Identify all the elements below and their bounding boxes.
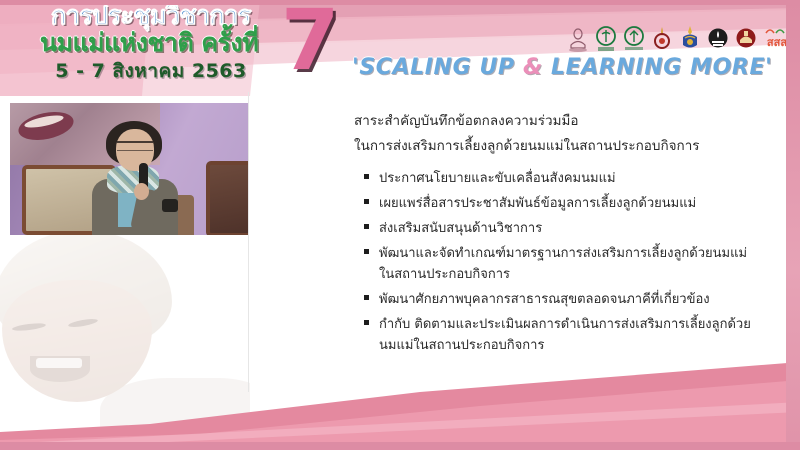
frame-bottom-border (0, 442, 800, 450)
frame-right-border (786, 0, 800, 450)
content-heading-line2: ในการส่งเสริมการเลี้ยงลูกด้วยนมแม่ในสถาน… (354, 134, 754, 159)
conference-title-line2: นมแม่แห่งชาติ ครั้งที่ (4, 30, 294, 56)
list-item-label: ส่งเสริมสนับสนุนด้านวิชาการ (379, 218, 759, 239)
conference-title-block: การประชุมวิชาการ นมแม่แห่งชาติ ครั้งที่ … (0, 0, 300, 96)
content-heading: สาระสำคัญบันทึกข้อตกลงความร่วมมือ ในการส… (354, 109, 754, 159)
bullet-square-icon (364, 295, 369, 300)
logo-ministry-of-public-health-icon (594, 24, 618, 54)
organizer-logo-strip: สสส (566, 24, 792, 54)
svg-text:สสส: สสส (767, 36, 787, 49)
list-item: เผยแพร่สื่อสารประชาสัมพันธ์ข้อมูลการเลี้… (364, 193, 759, 214)
list-item-label: เผยแพร่สื่อสารประชาสัมพันธ์ข้อมูลการเลี้… (379, 193, 759, 214)
conference-title-line1: การประชุมวิชาการ (18, 3, 284, 29)
list-item-label: ประกาศนโยบายและขับเคลื่อนสังคมนมแม่ (379, 168, 759, 189)
list-item-label: พัฒนาศักยภาพบุคลากรสาธารณสุขตลอดจนภาคีที… (379, 289, 759, 310)
bullet-square-icon (364, 249, 369, 254)
bullet-square-icon (364, 174, 369, 179)
list-item: พัฒนาและจัดทำเกณฑ์มาตรฐานการส่งเสริมการเ… (364, 243, 759, 285)
content-bullet-list: ประกาศนโยบายและขับเคลื่อนสังคมนมแม่ เผยแ… (364, 168, 759, 360)
list-item: พัฒนาศักยภาพบุคลากรสาธารณสุขตลอดจนภาคีที… (364, 289, 759, 310)
presentation-slide: 7 การประชุมวิชาการ นมแม่แห่งชาติ ครั้งที… (0, 0, 800, 450)
list-item: ส่งเสริมสนับสนุนด้านวิชาการ (364, 218, 759, 239)
conference-tagline: 'SCALING UP & LEARNING MORE' (352, 57, 772, 79)
conference-date: 5 - 7 สิงหาคม 2563 (20, 62, 282, 82)
list-item-label: พัฒนาและจัดทำเกณฑ์มาตรฐานการส่งเสริมการเ… (379, 243, 759, 285)
content-heading-line1: สาระสำคัญบันทึกข้อตกลงความร่วมมือ (354, 109, 754, 134)
bottom-pink-wave (0, 340, 800, 450)
tagline-ampersand: & (523, 55, 543, 80)
bullet-square-icon (364, 224, 369, 229)
logo-national-institute-icon (706, 24, 730, 54)
logo-department-of-health-icon (622, 24, 646, 54)
logo-royal-patronage-icon (566, 24, 590, 54)
speaker-glasses (117, 141, 153, 151)
speaker-hand (134, 183, 149, 200)
tagline-prefix: 'SCALING UP (352, 55, 523, 80)
bullet-square-icon (364, 199, 369, 204)
presentation-clicker (162, 199, 178, 212)
logo-thai-breastfeeding-centre-icon (650, 24, 674, 54)
frame-top-border (0, 0, 800, 5)
chair-right (206, 161, 248, 235)
logo-royal-garuda-emblem-icon (678, 24, 702, 54)
tagline-suffix: LEARNING MORE' (543, 55, 773, 80)
logo-university-emblem-icon (734, 24, 758, 54)
speaker-video[interactable] (10, 103, 248, 235)
bullet-square-icon (364, 320, 369, 325)
list-item: ประกาศนโยบายและขับเคลื่อนสังคมนมแม่ (364, 168, 759, 189)
